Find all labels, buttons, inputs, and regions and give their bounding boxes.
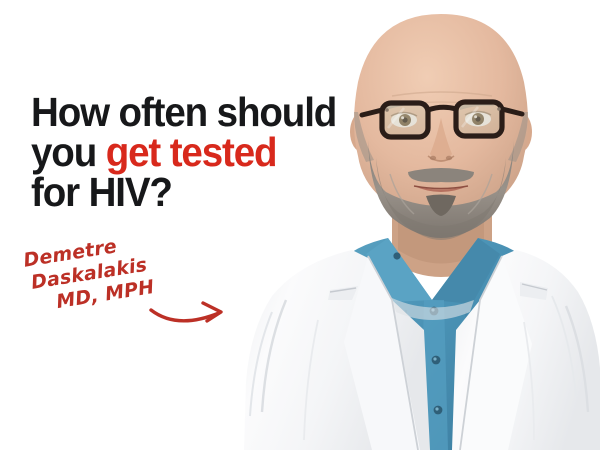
headline: How often should you get tested for HIV? [31, 92, 341, 212]
portrait-photo [0, 0, 600, 450]
handwritten-caption-group: Demetre Daskalakis MD, MPH [22, 248, 252, 340]
campaign-graphic: How often should you get tested for HIV?… [0, 0, 600, 450]
headline-line-3: for HIV? [31, 172, 341, 212]
headline-line-1: How often should [31, 92, 341, 132]
curved-arrow-right-icon [147, 294, 237, 336]
headline-line-2: you get tested [31, 132, 341, 172]
